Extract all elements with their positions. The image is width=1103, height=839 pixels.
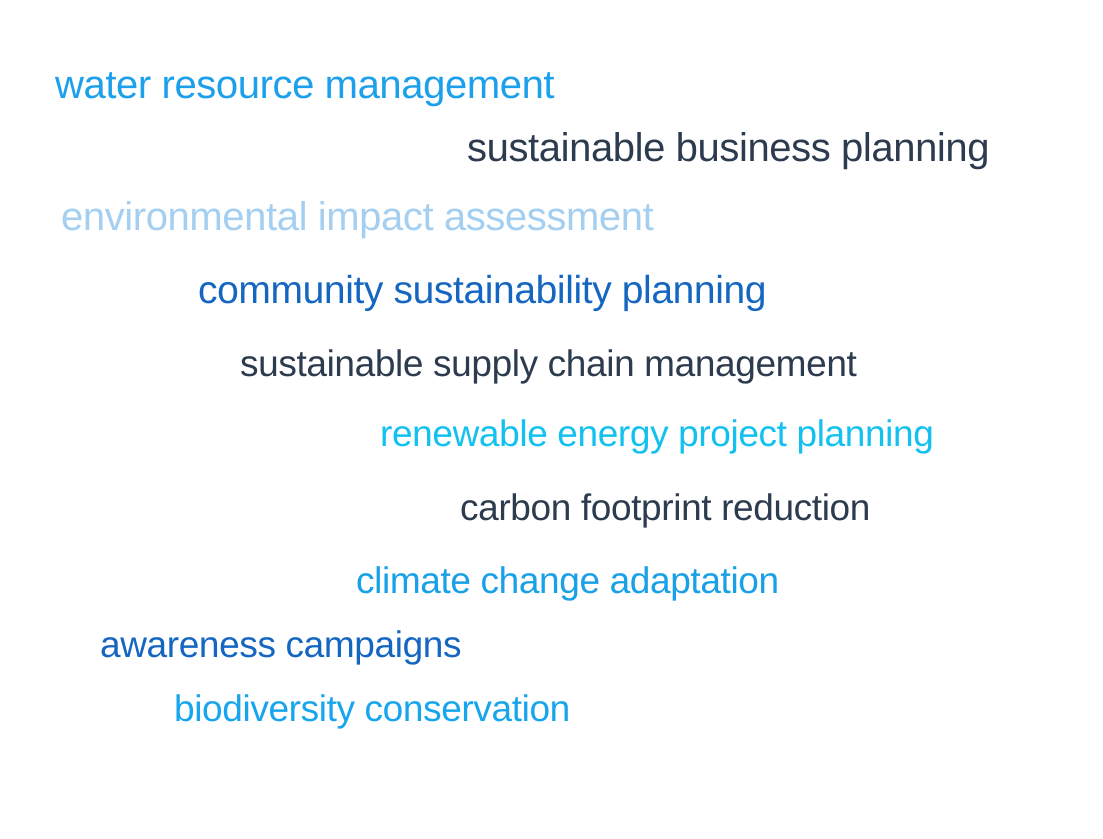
- keyword-community-sustainability-planning[interactable]: community sustainability planning: [198, 271, 766, 310]
- keyword-renewable-energy-project-planning[interactable]: renewable energy project planning: [380, 415, 933, 452]
- keyword-biodiversity-conservation[interactable]: biodiversity conservation: [174, 690, 570, 727]
- keyword-awareness-campaigns[interactable]: awareness campaigns: [100, 626, 461, 663]
- keyword-climate-change-adaptation[interactable]: climate change adaptation: [356, 562, 779, 599]
- keyword-environmental-impact-assessment[interactable]: environmental impact assessment: [61, 197, 653, 237]
- keyword-cloud-canvas: water resource management sustainable bu…: [0, 0, 1103, 839]
- keyword-water-resource-management[interactable]: water resource management: [55, 65, 554, 105]
- keyword-sustainable-supply-chain-management[interactable]: sustainable supply chain management: [240, 345, 856, 382]
- keyword-sustainable-business-planning[interactable]: sustainable business planning: [467, 128, 989, 168]
- keyword-carbon-footprint-reduction[interactable]: carbon footprint reduction: [460, 489, 870, 526]
